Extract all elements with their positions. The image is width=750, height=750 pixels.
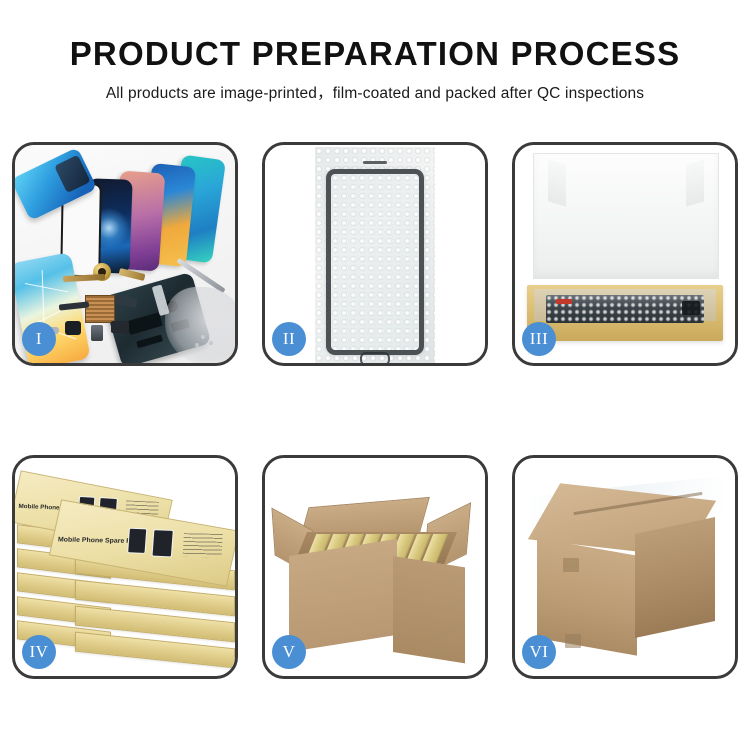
step-panel-vi: VI [512,455,738,679]
page-header: PRODUCT PREPARATION PROCESS All products… [0,34,750,104]
kraft-box-tray [527,285,723,341]
step-panel-iv: Mobile Phone Spare Parts Mobile Phone Sp… [12,455,238,679]
carton-corner-tab [565,634,581,648]
red-label-icon [556,299,572,304]
crack-line [25,283,68,293]
step-badge-v: V [272,635,306,669]
carton-front-face [289,539,397,652]
step-panel-i: I [12,142,238,366]
speaker-part [111,321,129,333]
step-panel-iii: III [512,142,738,366]
battery-connector-part [91,325,103,341]
step-badge-vi: VI [522,635,556,669]
home-button-icon [360,352,390,363]
wrapped-phone-screen [326,169,424,355]
carton-side-face [635,517,715,638]
step-panel-ii: II [262,142,488,366]
step-panel-v: V [262,455,488,679]
carton-side-face [393,556,465,663]
step-badge-ii: II [272,322,306,356]
copper-mesh-part [85,295,115,323]
step-badge-iii: III [522,322,556,356]
step-badge-i: I [22,322,56,356]
box-spec-lines [183,533,223,557]
carton-front-face [537,538,637,656]
earpiece-icon [363,161,387,164]
box-tray-inner [534,289,716,321]
page-subtitle: All products are image-printed，film-coat… [0,84,750,104]
step-badge-iv: IV [22,635,56,669]
process-steps-grid: I II [12,142,738,679]
page-title: PRODUCT PREPARATION PROCESS [0,34,750,74]
camera-part [65,321,81,335]
lid-flap-right [686,159,704,206]
bubble-wrap-sheet [315,147,435,363]
lid-flap-left [548,159,566,206]
wrapped-screen-in-tray [546,295,704,323]
box-lid-white [533,153,719,279]
chip-icon [136,334,163,348]
carton-corner-tab [563,558,579,572]
box-thumbnail-icon [127,528,147,554]
chip-icon [126,312,163,335]
box-thumbnail-icon [151,529,173,557]
